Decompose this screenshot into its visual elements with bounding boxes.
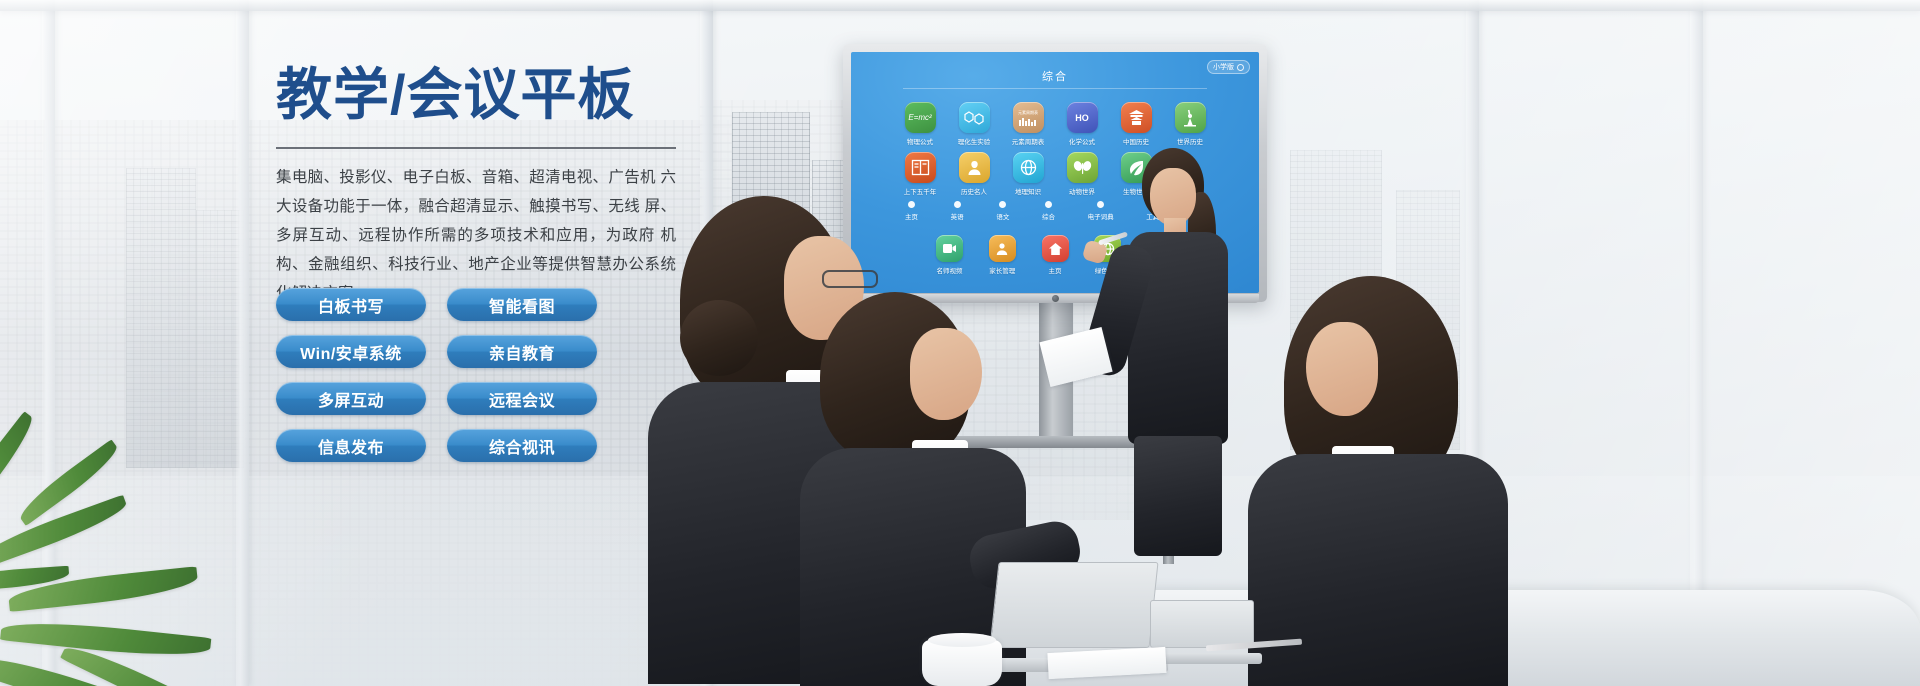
grade-badge-label: 小学版 [1213,62,1234,72]
app-physics-formula[interactable]: E=mc² 物理公式 [895,102,945,146]
app-teacher-video[interactable]: 名师视频 [936,235,963,275]
refresh-icon [1237,64,1244,71]
attendee-c-jacket [1248,454,1508,686]
presenter [1118,148,1236,568]
attendee-b-face [910,328,982,420]
app-parent-control[interactable]: 家长管理 [989,235,1016,275]
tab-label: 语文 [996,211,1009,221]
app-home[interactable]: 主页 [1042,235,1069,275]
app-science-lab[interactable]: 理化生实验 [949,102,999,146]
app-label: 中国历史 [1123,136,1149,146]
tab-chinese[interactable]: 语文 [996,201,1009,221]
screen-title-divider [903,88,1207,89]
scholar-icon [959,152,990,183]
grade-badge[interactable]: 小学版 [1207,60,1250,74]
app-historical-figures[interactable]: 历史名人 [949,152,999,196]
app-geography[interactable]: 地理知识 [1003,152,1053,196]
attendee-right [1254,276,1534,686]
tab-home[interactable]: 主页 [905,201,918,221]
tab-dictionary[interactable]: 电子词典 [1088,201,1114,221]
molecule-icon [959,102,990,133]
feature-button-whiteboard[interactable]: 白板书写 [276,288,426,321]
attendee-c-face [1306,322,1378,416]
feature-button-grid: 白板书写 智能看图 Win/安卓系统 亲自教育 多屏互动 远程会议 信息发布 综… [276,288,597,462]
app-label: 动物世界 [1069,186,1095,196]
app-label: 化学公式 [1069,136,1095,146]
butterfly-icon [1067,152,1098,183]
feature-button-multiscreen[interactable]: 多屏互动 [276,382,426,415]
chemistry-formula-icon: HO [1067,102,1098,133]
app-chinese-history[interactable]: 中国历史 [1111,102,1161,146]
tab-dot-icon [908,201,915,208]
app-label: 地理知识 [1015,186,1041,196]
app-animal-world[interactable]: 动物世界 [1057,152,1107,196]
home-icon [1042,235,1069,262]
potted-plant [0,446,290,686]
app-periodic-table[interactable]: 元素周期表 元素周期表 [1003,102,1053,146]
feature-button-win-android[interactable]: Win/安卓系统 [276,335,426,368]
app-label: 物理公式 [907,136,933,146]
app-label: 名师视频 [937,265,963,275]
attendee-a-bun [680,300,758,376]
app-chemistry-formula[interactable]: HO 化学公式 [1057,102,1107,146]
app-world-history[interactable]: 世界历史 [1165,102,1215,146]
app-label: 理化生实验 [958,136,991,146]
presenter-skirt [1134,436,1222,556]
app-five-thousand-years[interactable]: 上下五千年 [895,152,945,196]
tab-dot-icon [1097,201,1104,208]
app-label: 上下五千年 [904,186,937,196]
feature-button-education[interactable]: 亲自教育 [447,335,597,368]
tab-dot-icon [1045,201,1052,208]
power-indicator-icon [1052,295,1059,302]
app-label: 元素周期表 [1012,136,1045,146]
tab-label: 主页 [905,211,918,221]
window-mullion-5 [1690,0,1703,686]
title-divider [276,147,676,149]
feature-button-smart-view[interactable]: 智能看图 [447,288,597,321]
hero-banner: 教学/会议平板 集电脑、投影仪、电子白板、音箱、超清电视、广告机 六大设备功能于… [0,0,1920,686]
tab-label: 英语 [951,211,964,221]
parent-icon [989,235,1016,262]
app-label: 世界历史 [1177,136,1203,146]
attendee-a-glasses [822,270,878,288]
tab-label: 综合 [1042,211,1055,221]
app-label: 历史名人 [961,186,987,196]
tab-english[interactable]: 英语 [951,201,964,221]
globe-icon [1013,152,1044,183]
laptop-lid [1150,600,1254,648]
building-tower-c [126,168,196,468]
app-label: 主页 [1049,265,1062,275]
tab-label: 电子词典 [1088,211,1114,221]
hero-description: 集电脑、投影仪、电子白板、音箱、超清电视、广告机 六大设备功能于一体，融合超清显… [276,163,676,308]
screen-title: 综合 [851,68,1259,84]
feature-button-video-conf[interactable]: 综合视讯 [447,429,597,462]
coffee-cup [922,640,1002,686]
tab-comprehensive[interactable]: 综合 [1042,201,1055,221]
physics-formula-icon: E=mc² [905,102,936,133]
window-transom [0,0,1920,11]
hero-copy-block: 教学/会议平板 集电脑、投影仪、电子白板、音箱、超清电视、广告机 六大设备功能于… [276,64,696,308]
page-title: 教学/会议平板 [276,64,696,127]
app-label: 家长管理 [989,265,1015,275]
pagoda-icon [1121,102,1152,133]
laptop-lid [989,562,1158,648]
feature-button-remote-meeting[interactable]: 远程会议 [447,382,597,415]
video-icon [936,235,963,262]
statue-liberty-icon [1175,102,1206,133]
periodic-table-icon: 元素周期表 [1013,102,1044,133]
feature-button-info-publish[interactable]: 信息发布 [276,429,426,462]
tab-dot-icon [954,201,961,208]
open-book-icon [905,152,936,183]
tab-dot-icon [999,201,1006,208]
